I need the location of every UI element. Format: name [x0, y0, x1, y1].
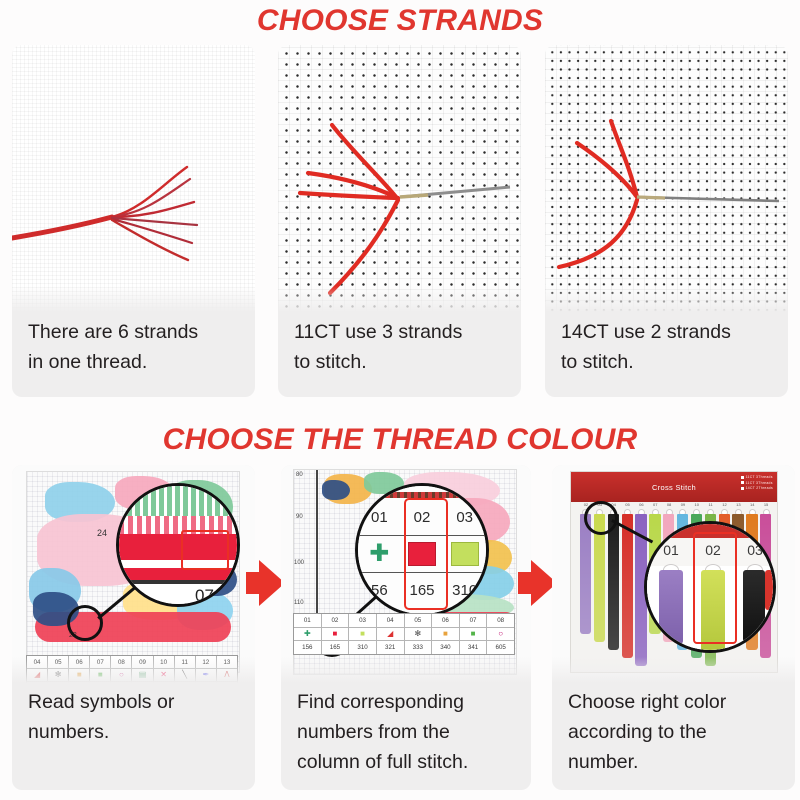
- red-swatch-icon: [408, 542, 436, 566]
- 11ct-aida-with-three-strands-photo: [278, 45, 521, 312]
- legend-symbol-cell: ◢: [377, 628, 404, 642]
- legend-number-cell: 01: [294, 614, 321, 628]
- photo-bottom-fade: [545, 286, 788, 312]
- legend-number-cell: 08: [487, 614, 514, 628]
- chart-cell-number: 24: [97, 528, 107, 538]
- legend-number-cell: 03: [349, 614, 376, 628]
- caption-line-3: column of full stitch.: [297, 747, 515, 777]
- legend-item: 11CT 3Threads: [741, 481, 773, 485]
- table-row-symbols: ✚: [358, 536, 486, 572]
- six-strands-illustration: [12, 45, 255, 312]
- legend-item: 14CT 2Threads: [741, 486, 773, 490]
- legend-symbol-icon: ✻: [414, 630, 421, 638]
- peg-number-label: 10: [690, 502, 704, 507]
- legend-item-label: 11CT 3Threads: [746, 475, 773, 479]
- cell-number: 03: [443, 500, 486, 535]
- card-find-numbers: 80 90 100 110: [281, 465, 531, 790]
- peg-number-label: 12: [718, 502, 732, 507]
- caption-line-3: number.: [568, 747, 779, 777]
- card-six-strands: There are 6 strands in one thread.: [12, 45, 255, 397]
- legend-column: 08○605: [487, 614, 514, 654]
- magnifier-source-ring: [584, 501, 618, 535]
- two-strands-and-needle-illustration: [545, 45, 788, 312]
- legend-symbol-cell: ✚: [294, 628, 321, 642]
- section-title-choose-strands: CHOOSE STRANDS: [0, 4, 800, 38]
- card-find-numbers-caption: Find corresponding numbers from the colu…: [281, 687, 531, 777]
- cell-code: 56: [358, 573, 401, 608]
- legend-symbol-cell: ○: [487, 628, 514, 642]
- caption-line-1: Read symbols or: [28, 687, 239, 717]
- skein-swatch: [701, 570, 725, 652]
- legend-column: 06■340: [432, 614, 460, 654]
- thread-card-header: Cross Stitch 11CT 3Threads 11CT 3Threads…: [571, 472, 777, 502]
- photo-bottom-fade: [281, 657, 531, 683]
- cell-code: 310: [443, 573, 486, 608]
- legend-number-cell: 02: [322, 614, 349, 628]
- plus-symbol-icon: ✚: [369, 542, 389, 566]
- 14ct-aida-with-two-strands-photo: [545, 45, 788, 312]
- caption-line-2: to stitch.: [561, 347, 772, 377]
- peg-number-label: 15: [759, 502, 773, 507]
- lens-pattern-band: [119, 568, 240, 580]
- full-stitch-legend-table: 01✚15602■16503■31004◢32105✻33306■34007■3…: [293, 613, 515, 655]
- lens-pattern-band: [119, 560, 240, 568]
- legend-column: 03■310: [349, 614, 377, 654]
- cell-symbol: [401, 536, 444, 571]
- lens-pattern-band: [119, 516, 240, 536]
- caption-line-2: numbers from the: [297, 717, 515, 747]
- caption-line-2: according to the: [568, 717, 779, 747]
- row-axis-label: 100: [294, 560, 304, 566]
- magnifier-lens: 07: [116, 483, 240, 607]
- magnifier-number-label: 03: [737, 542, 773, 558]
- skein-swatch: [622, 514, 633, 658]
- card-read-symbols-caption: Read symbols or numbers.: [12, 687, 255, 747]
- plain-fabric-with-six-strands-photo: [12, 45, 255, 312]
- caption-line-2: numbers.: [28, 717, 239, 747]
- table-row-codes: 56 165 310: [358, 573, 486, 608]
- section-title-choose-thread-colour: CHOOSE THE THREAD COLOUR: [0, 423, 800, 457]
- row-axis-label: 90: [296, 514, 303, 520]
- caption-line-2: in one thread.: [28, 347, 239, 377]
- row-axis-label: 110: [294, 600, 304, 606]
- card-read-symbols: 24 22 07 04◢32105✻33306■34007■34108○6050: [12, 465, 255, 790]
- skein-swatch: [743, 570, 765, 642]
- magnifier-number-label: 02: [695, 542, 731, 558]
- legend-number-cell: 04: [377, 614, 404, 628]
- table-row-numbers: 01 02 03: [358, 500, 486, 536]
- legend-code-cell: 156: [294, 641, 321, 654]
- caption-line-1: 14CT use 2 strands: [561, 317, 772, 347]
- legend-column: 05✻333: [405, 614, 433, 654]
- legend-symbol-icon: ◢: [387, 630, 393, 638]
- photo-bottom-fade: [552, 657, 795, 683]
- legend-column: 04◢321: [377, 614, 405, 654]
- magnifier-source-ring: [67, 605, 103, 641]
- legend-column: 01✚156: [294, 614, 322, 654]
- magnifier-lens: 01 02 03 ✚: [355, 483, 489, 617]
- skein-swatch: [608, 514, 619, 650]
- legend-column: 02■165: [322, 614, 350, 654]
- pattern-blob: [322, 480, 350, 500]
- peg-number-label: 14: [745, 502, 759, 507]
- peg-number-label: 11: [704, 502, 718, 507]
- lens-card-header: [647, 524, 776, 538]
- lens-pattern-band: [119, 486, 240, 520]
- card-six-strands-caption: There are 6 strands in one thread.: [12, 317, 255, 377]
- legend-code-cell: 605: [487, 641, 514, 654]
- cell-number: 01: [358, 500, 401, 535]
- photo-bottom-fade: [12, 657, 255, 683]
- card-14ct-caption: 14CT use 2 strands to stitch.: [545, 317, 788, 377]
- legend-item: 11CT 3Threads: [741, 475, 773, 479]
- peg-number-label: 06: [634, 502, 648, 507]
- legend-symbol-cell: ■: [460, 628, 487, 642]
- pattern-chart-full-stitch-column-photo: 80 90 100 110: [281, 465, 531, 683]
- legend-item-label: 11CT 3Threads: [746, 481, 773, 485]
- thread-card-title: Cross Stitch: [652, 483, 696, 492]
- card-choose-colour-caption: Choose right color according to the numb…: [552, 687, 795, 777]
- legend-code-cell: 310: [349, 641, 376, 654]
- green-swatch-icon: [451, 542, 479, 566]
- card-choose-colour: Cross Stitch 11CT 3Threads 11CT 3Threads…: [552, 465, 795, 790]
- magnifier-lens: 01 02 03: [644, 521, 776, 653]
- magnifier-number-label: 07: [195, 586, 214, 606]
- peg-number-label: 09: [676, 502, 690, 507]
- cell-number: 02: [401, 500, 444, 535]
- legend-number-cell: 07: [460, 614, 487, 628]
- three-strands-and-needle-illustration: [278, 45, 521, 312]
- pattern-chart-symbols-photo: 24 22 07 04◢32105✻33306■34007■34108○6050: [12, 465, 255, 683]
- legend-symbol-icon: ○: [498, 630, 503, 638]
- card-11ct-caption: 11CT use 3 strands to stitch.: [278, 317, 521, 377]
- checkbox-icon: [741, 476, 744, 479]
- axis-line: [316, 470, 318, 630]
- skein-swatch: [580, 514, 591, 634]
- infographic-page: CHOOSE STRANDS There are 6 strands in on: [0, 0, 800, 800]
- peg-number-label: 05: [621, 502, 635, 507]
- thread-colour-card-photo: Cross Stitch 11CT 3Threads 11CT 3Threads…: [552, 465, 795, 683]
- legend-item-label: 14CT 2Threads: [746, 486, 773, 490]
- skein-swatch: [659, 570, 683, 644]
- legend-code-cell: 333: [405, 641, 432, 654]
- thread-card-legend: 11CT 3Threads 11CT 3Threads 14CT 2Thread…: [741, 475, 773, 490]
- legend-symbol-icon: ■: [471, 630, 476, 638]
- legend-symbol-icon: ✚: [304, 630, 311, 638]
- peg-number-label: 13: [731, 502, 745, 507]
- caption-line-2: to stitch.: [294, 347, 505, 377]
- full-stitch-column-table: 01 02 03 ✚: [358, 500, 486, 608]
- magnifier-number-label: 01: [653, 542, 689, 558]
- legend-symbol-cell: ■: [432, 628, 459, 642]
- cell-code: 165: [401, 573, 444, 608]
- legend-symbol-cell: ■: [322, 628, 349, 642]
- caption-line-1: There are 6 strands: [28, 317, 239, 347]
- photo-bottom-fade: [278, 286, 521, 312]
- legend-code-cell: 341: [460, 641, 487, 654]
- legend-number-cell: 05: [405, 614, 432, 628]
- checkbox-icon: [741, 487, 744, 490]
- photo-bottom-fade: [12, 286, 255, 312]
- lens-separator: [119, 580, 240, 584]
- caption-line-1: Choose right color: [568, 687, 779, 717]
- card-14ct-two-strands: 14CT use 2 strands to stitch.: [545, 45, 788, 397]
- legend-number-cell: 06: [432, 614, 459, 628]
- lens-pattern-band: [358, 492, 489, 498]
- caption-line-1: Find corresponding: [297, 687, 515, 717]
- peg-number-label: 08: [662, 502, 676, 507]
- caption-line-1: 11CT use 3 strands: [294, 317, 505, 347]
- legend-symbol-icon: ■: [333, 630, 338, 638]
- cell-symbol: ✚: [358, 536, 401, 571]
- cell-symbol: [443, 536, 486, 571]
- checkbox-icon: [741, 481, 744, 484]
- legend-code-cell: 165: [322, 641, 349, 654]
- legend-code-cell: 321: [377, 641, 404, 654]
- lens-pattern-band: [119, 534, 240, 560]
- legend-symbol-icon: ■: [360, 630, 365, 638]
- legend-symbol-cell: ✻: [405, 628, 432, 642]
- legend-symbol-icon: ■: [443, 630, 448, 638]
- peg-number-label: 07: [648, 502, 662, 507]
- legend-column: 07■341: [460, 614, 488, 654]
- card-11ct-three-strands: 11CT use 3 strands to stitch.: [278, 45, 521, 397]
- legend-symbol-cell: ■: [349, 628, 376, 642]
- legend-code-cell: 340: [432, 641, 459, 654]
- row-axis-label: 80: [296, 472, 303, 478]
